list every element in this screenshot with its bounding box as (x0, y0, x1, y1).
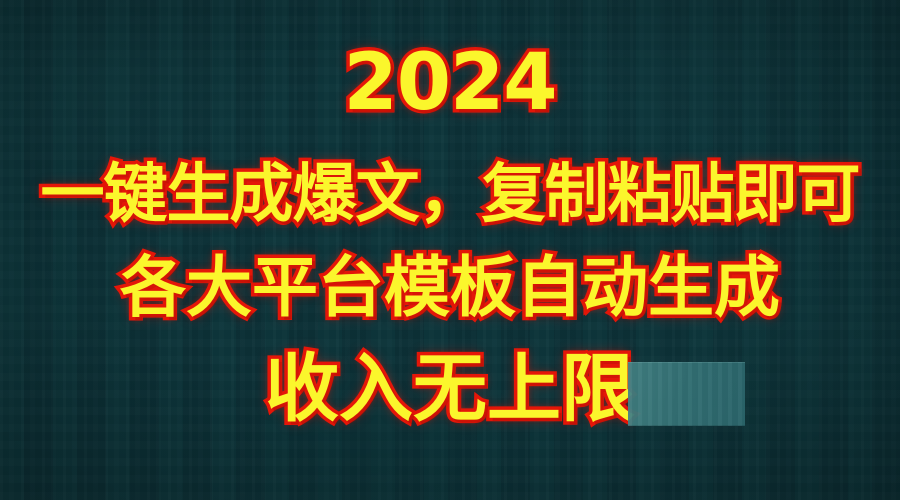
headline-line-unlimited-income: 收入无上限 (0, 352, 900, 426)
promo-banner-canvas: 2024 一键生成爆文，复制粘贴即可 各大平台模板自动生成 收入无上限 (0, 0, 900, 500)
headline-text-layer: 2024 一键生成爆文，复制粘贴即可 各大平台模板自动生成 收入无上限 (0, 0, 900, 500)
redaction-patch (628, 362, 745, 426)
headline-line-one-key-generate: 一键生成爆文，复制粘贴即可 (0, 163, 900, 227)
headline-line-platform-templates: 各大平台模板自动生成 (0, 255, 900, 321)
headline-year: 2024 (0, 44, 900, 122)
